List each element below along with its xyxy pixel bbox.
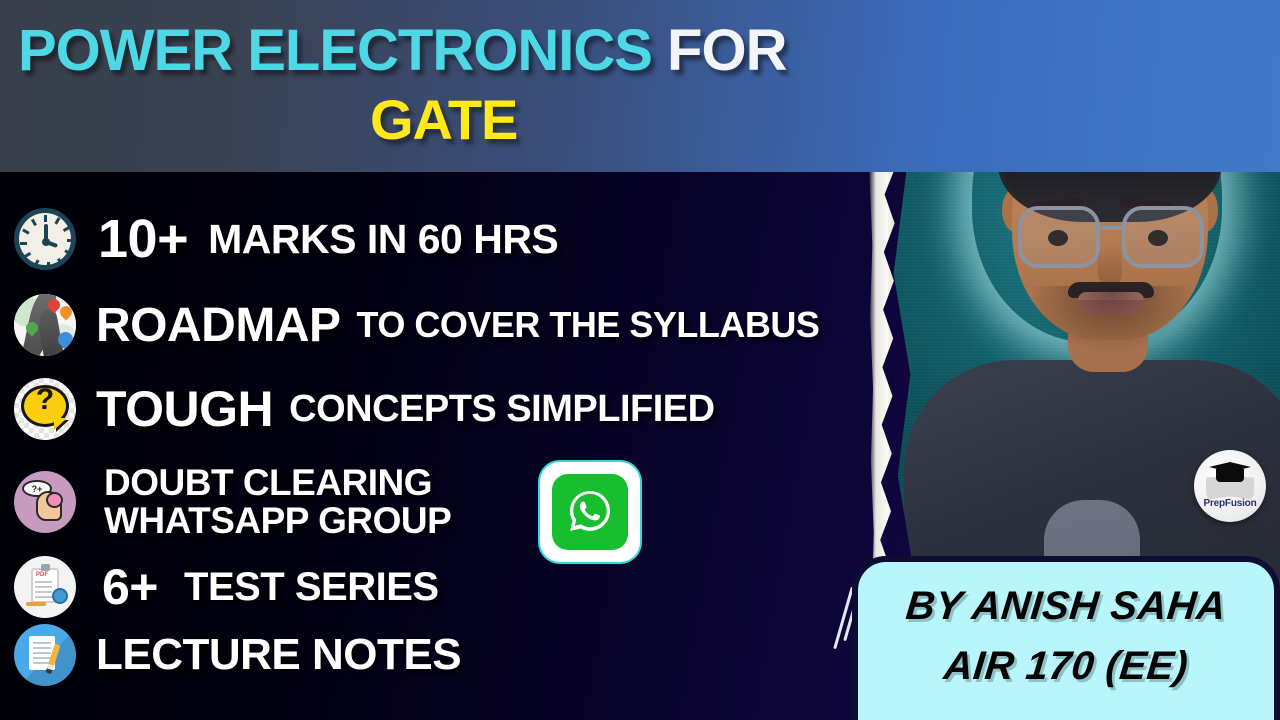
list-item: ROADMAP TO COVER THE SYLLABUS — [14, 294, 819, 356]
header-band: POWER ELECTRONICS FOR GATE — [0, 0, 1280, 172]
clock-icon — [14, 208, 76, 270]
feature-detail: TEST SERIES — [184, 565, 439, 610]
brain-doubt-icon: ?+ — [14, 471, 76, 533]
feature-detail: CONCEPTS SIMPLIFIED — [289, 388, 714, 431]
feature-highlight: ROADMAP — [96, 298, 341, 353]
title-highlight: POWER ELECTRONICS — [18, 18, 667, 83]
logo-label: PrepFusion — [1194, 498, 1266, 509]
feature-detail: TO COVER THE SYLLABUS — [357, 304, 820, 346]
glasses-lens-right — [1122, 206, 1204, 268]
page-title: POWER ELECTRONICS FOR — [18, 22, 786, 80]
portrait-beard — [1032, 286, 1190, 352]
feature-detail: MARKS IN 60 HRS — [208, 216, 558, 263]
lecture-notes-icon — [14, 624, 76, 686]
whatsapp-icon[interactable] — [540, 462, 640, 562]
feature-detail: WHATSAPP GROUP — [104, 502, 451, 540]
feature-list: 10+ MARKS IN 60 HRS ROADMAP TO COVER THE… — [0, 176, 880, 720]
list-item: 10+ MARKS IN 60 HRS — [14, 208, 558, 270]
feature-highlight: 10+ — [98, 208, 188, 270]
feature-highlight: 6+ — [102, 558, 158, 616]
title-suffix: FOR — [667, 18, 786, 83]
poster-canvas: POWER ELECTRONICS FOR GATE PrepFusion — [0, 0, 1280, 720]
instructor-badge: BY ANISH SAHA AIR 170 (EE) — [852, 556, 1280, 720]
graduation-cap-base-icon — [1216, 469, 1244, 482]
glasses-lens-left — [1018, 206, 1100, 268]
whatsapp-glyph — [566, 487, 614, 535]
whatsapp-icon-background — [552, 474, 628, 550]
test-series-icon: PDF — [14, 556, 76, 618]
prepfusion-logo: PrepFusion — [1194, 450, 1266, 522]
roadmap-icon — [14, 294, 76, 356]
page-subtitle: GATE — [370, 92, 517, 148]
list-item: PDF 6+ TEST SERIES — [14, 556, 439, 618]
portrait-nose — [1098, 244, 1122, 286]
question-icon: ? — [14, 378, 76, 440]
list-item: ?+ DOUBT CLEARING WHATSAPP GROUP — [14, 464, 451, 539]
instructor-rank: AIR 170 (EE) — [856, 644, 1277, 689]
glasses-bridge — [1100, 226, 1122, 230]
list-item: ? TOUGH CONCEPTS SIMPLIFIED — [14, 378, 715, 440]
feature-highlight: TOUGH — [96, 380, 273, 438]
feature-highlight: LECTURE NOTES — [96, 630, 461, 680]
list-item: LECTURE NOTES — [14, 624, 461, 686]
instructor-name: BY ANISH SAHA — [856, 584, 1277, 629]
feature-highlight: DOUBT CLEARING — [104, 464, 451, 502]
